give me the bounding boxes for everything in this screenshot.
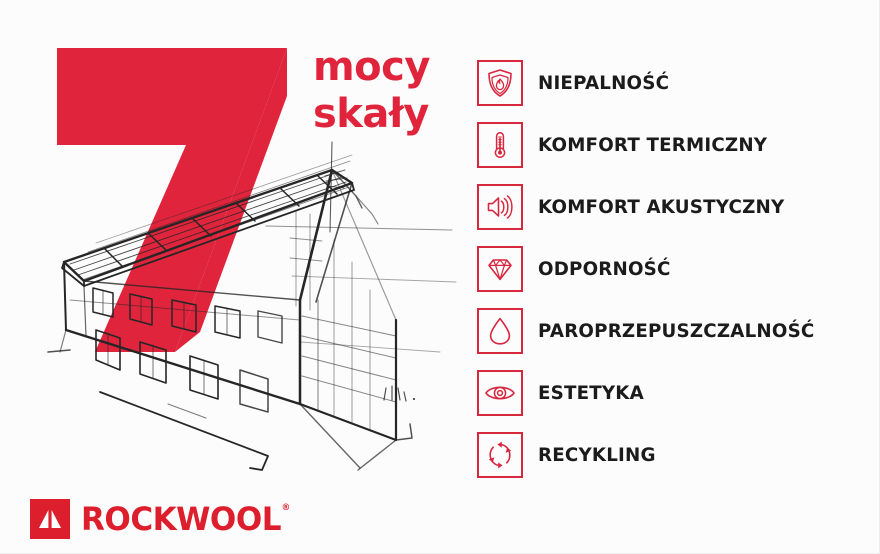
fire-shield-icon-box: [477, 60, 523, 106]
rockwool-wordmark-text: ROCKWOOL: [81, 500, 281, 538]
fire-shield-icon: [486, 68, 514, 98]
feature-item-estetyka[interactable]: ESTETYKA: [477, 370, 867, 416]
eye-icon-box: [477, 370, 523, 416]
diamond-icon-box: [477, 246, 523, 292]
feature-label: PAROPRZEPUSZCZALNOŚĆ: [538, 320, 814, 342]
rockwool-logo-mark: [30, 499, 70, 539]
feature-item-odpornosc[interactable]: ODPORNOŚĆ: [477, 246, 867, 292]
headline: mocy skały: [313, 44, 430, 138]
diamond-icon: [485, 255, 515, 283]
feature-label: NIEPALNOŚĆ: [538, 72, 669, 94]
thermometer-icon: [486, 130, 514, 160]
feature-label: ODPORNOŚĆ: [538, 258, 671, 280]
feature-label: KOMFORT TERMICZNY: [538, 134, 767, 156]
feature-item-komfort-termiczny[interactable]: KOMFORT TERMICZNY: [477, 122, 867, 168]
registered-trademark-icon: ®: [282, 504, 290, 513]
mountain-mark-icon: [36, 508, 64, 530]
speaker-sound-icon-box: [477, 184, 523, 230]
rockwool-wordmark: ROCKWOOL ®: [81, 503, 281, 535]
recycling-icon-box: [477, 432, 523, 478]
water-droplet-icon-box: [477, 308, 523, 354]
feature-item-paroprzepuszczalnosc[interactable]: PAROPRZEPUSZCZALNOŚĆ: [477, 308, 867, 354]
headline-line-2: skały: [313, 91, 430, 138]
headline-line-1: mocy: [313, 44, 430, 91]
feature-label: KOMFORT AKUSTYCZNY: [538, 196, 784, 218]
feature-item-recykling[interactable]: RECYKLING: [477, 432, 867, 478]
thermometer-icon-box: [477, 122, 523, 168]
rockwool-logo[interactable]: ROCKWOOL ®: [30, 499, 287, 539]
feature-label: ESTETYKA: [538, 382, 644, 404]
recycling-icon: [485, 440, 515, 470]
feature-item-komfort-akustyczny[interactable]: KOMFORT AKUSTYCZNY: [477, 184, 867, 230]
speaker-sound-icon: [485, 193, 515, 221]
water-droplet-icon: [487, 316, 513, 346]
feature-label: RECYKLING: [538, 444, 656, 466]
feature-item-niepalnosc[interactable]: NIEPALNOŚĆ: [477, 60, 867, 106]
feature-list: NIEPALNOŚĆ KOMFORT TERMICZNY: [477, 60, 867, 494]
poster-canvas: mocy skały NIEPALNOŚĆ: [0, 0, 880, 554]
eye-icon: [484, 381, 516, 405]
